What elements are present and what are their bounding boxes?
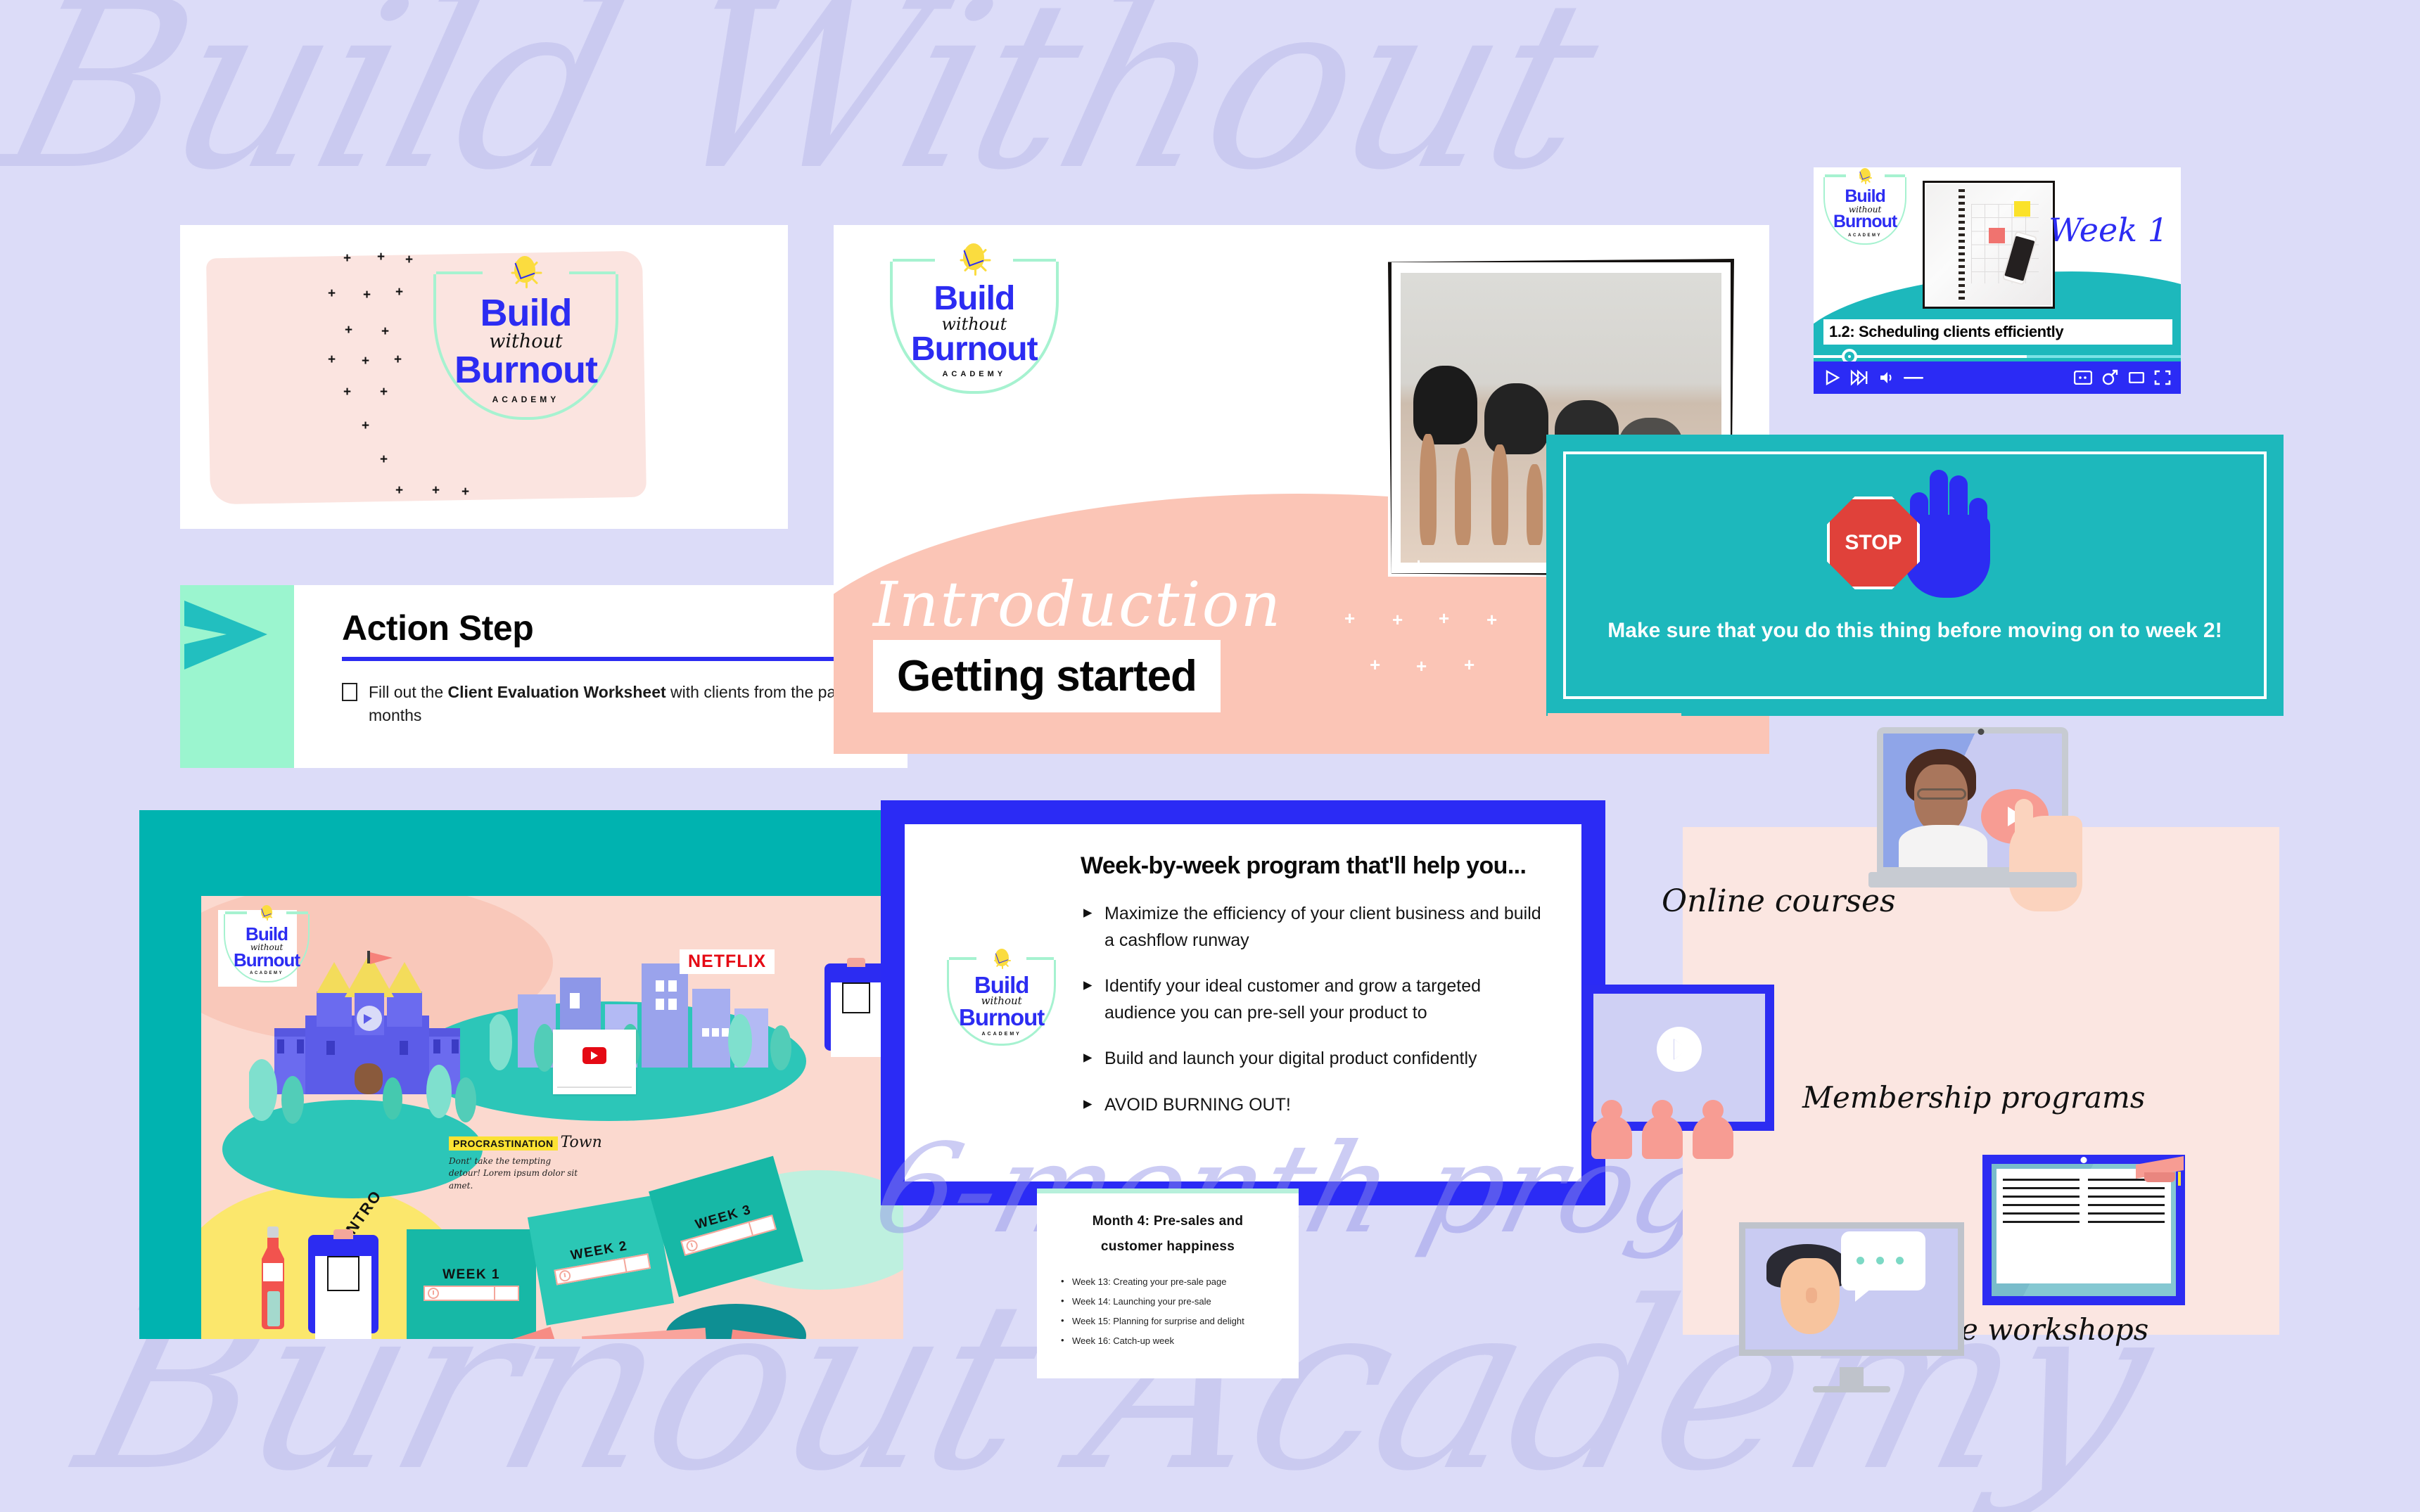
red-sticky-note: [1989, 228, 2005, 243]
roadmap-board-slide[interactable]: Build without Burnout ACADEMY: [139, 810, 903, 1339]
month-title: Month 4: Pre-sales and customer happines…: [1061, 1209, 1275, 1260]
graduation-cap-icon: [2136, 1160, 2184, 1186]
tile-slot: [423, 1286, 519, 1301]
brand-academy-text: ACADEMY: [911, 370, 1038, 378]
month-4-slide[interactable]: Month 4: Pre-sales and customer happines…: [1037, 1189, 1299, 1378]
mini-player-icon[interactable]: [2129, 372, 2144, 383]
stop-sign-icon: STOP: [1827, 496, 1920, 589]
castle-illustration: [249, 951, 488, 1127]
list-item: Week 13: Creating your pre-sale page: [1061, 1276, 1299, 1287]
brand-logo: Build without Burnout ACADEMY: [433, 274, 567, 420]
product-types-slide[interactable]: Online courses Membership programs E-boo…: [1683, 827, 2279, 1335]
brand-without-text: without: [911, 316, 1038, 333]
board-tile-week-10: WEEK 10: [582, 1328, 713, 1339]
hand-cursor-icon: [2009, 816, 2082, 911]
fullscreen-icon[interactable]: [2154, 370, 2171, 385]
stop-warning-slide[interactable]: STOP Make sure that you do this thing be…: [1546, 435, 2284, 716]
video-lesson-player[interactable]: Build without Burnout ACADEMY Week 1 1.2…: [1814, 167, 2181, 394]
town-script: Town: [561, 1134, 602, 1151]
label-online-courses: Online courses: [1662, 883, 1896, 919]
brand-build-text: Build: [959, 974, 1044, 996]
sun-icon: [507, 252, 544, 288]
youtube-video-card: [553, 1030, 636, 1094]
list-item: Week 14: Launching your pre-sale: [1061, 1296, 1299, 1307]
brand-academy-text: ACADEMY: [1833, 233, 1897, 238]
label-membership-programs: Membership programs: [1802, 1080, 2145, 1115]
sun-icon: [990, 946, 1014, 970]
week-by-week-program-slide[interactable]: Build without Burnout ACADEMY Week-by-we…: [881, 800, 1605, 1205]
list-item: AVOID BURNING OUT!: [1081, 1092, 1542, 1119]
procrastination-highlight: PROCRASTINATION: [449, 1136, 558, 1151]
lesson-title-bar: 1.2: Scheduling clients efficiently: [1823, 319, 2172, 345]
arrow-icon: [184, 598, 325, 674]
volume-slider[interactable]: [1904, 376, 1923, 380]
stop-hand-illustration: STOP: [1827, 453, 2003, 601]
brand-logo: Build without Burnout ACADEMY: [947, 960, 1038, 1046]
procrastination-note: Dont' take the tempting detour! Lorem ip…: [449, 1155, 579, 1192]
board-tile-week-2: WEEK 2: [528, 1195, 674, 1326]
ebook-tablet-illustration: [1982, 1155, 2185, 1305]
brand-cover-slide[interactable]: +++ +++ ++ +++ ++ + + + ++ Build without…: [180, 225, 788, 529]
yellow-sticky-note: [2014, 201, 2030, 217]
task-prefix: Fill out the: [369, 683, 448, 701]
task-bold: Client Evaluation Worksheet: [448, 683, 666, 701]
program-heading: Week-by-week program that'll help you...: [1081, 852, 1542, 880]
list-item: Identify your ideal customer and grow a …: [1081, 973, 1542, 1026]
sun-icon: [956, 239, 993, 276]
getting-started-headline: Getting started: [873, 640, 1221, 712]
brand-academy-text: ACADEMY: [454, 395, 597, 404]
task-text: Fill out the Client Evaluation Worksheet…: [369, 681, 882, 728]
brand-build-text: Build: [1833, 188, 1897, 205]
chat-bubble-icon: [1841, 1231, 1925, 1290]
brand-academy-text: ACADEMY: [959, 1032, 1044, 1037]
progress-scrubber[interactable]: [1814, 352, 2181, 361]
list-item: Week 15: Planning for surprise and delig…: [1061, 1316, 1299, 1326]
brand-burnout-text: Burnout: [454, 352, 597, 388]
brand-logo: Build without Burnout ACADEMY: [1823, 177, 1897, 245]
brand-without-text: without: [454, 332, 597, 351]
introduction-script-label: Introduction: [873, 568, 1282, 641]
play-icon[interactable]: [1823, 369, 1840, 386]
list-item: Maximize the efficiency of your client b…: [1081, 901, 1542, 954]
brand-build-text: Build: [234, 925, 300, 943]
clipboard-illustration-2: [824, 963, 888, 1051]
player-controls[interactable]: [1814, 361, 2181, 394]
mint-top-bar: [1037, 1189, 1299, 1193]
volume-icon[interactable]: [1878, 370, 1894, 385]
membership-video-illustration: [1584, 985, 1774, 1131]
laptop-course-illustration: [1877, 727, 2085, 909]
brand-build-text: Build: [454, 295, 597, 331]
month-week-list: Week 13: Creating your pre-sale page Wee…: [1061, 1276, 1299, 1346]
tile-label: WEEK 1: [442, 1267, 500, 1283]
action-step-slide[interactable]: Action Step Fill out the Client Evaluati…: [180, 585, 907, 768]
program-bullet-list: Maximize the efficiency of your client b…: [1081, 901, 1542, 1118]
brand-burnout-text: Burnout: [911, 333, 1038, 366]
week-label: Week 1: [2049, 211, 2168, 249]
bottle-illustration: [253, 1226, 293, 1339]
procrastination-town-callout: PROCRASTINATIONTown Dont' take the tempt…: [449, 1134, 646, 1192]
sun-icon: [257, 903, 276, 921]
netflix-billboard: NETFLIX: [680, 949, 775, 974]
sun-icon: [1856, 167, 1874, 184]
brand-burnout-text: Burnout: [959, 1006, 1044, 1028]
task-checkbox[interactable]: [342, 683, 357, 701]
youtube-play-icon: [582, 1047, 606, 1064]
blue-rule: [342, 657, 882, 661]
action-step-title: Action Step: [342, 608, 882, 648]
next-track-icon[interactable]: [1850, 369, 1868, 386]
audience-icons: [1591, 1115, 1733, 1159]
play-button-icon: [1657, 1027, 1702, 1072]
settings-icon[interactable]: [2102, 369, 2119, 386]
clipboard-illustration: [308, 1235, 378, 1333]
watermark-top: Build Without: [0, 0, 1618, 221]
captions-icon[interactable]: [2074, 371, 2092, 385]
lesson-thumbnail: [1923, 181, 2054, 308]
pink-sliver-shape: [1548, 713, 1681, 744]
brand-build-text: Build: [911, 283, 1038, 315]
list-item: Week 16: Catch-up week: [1061, 1335, 1299, 1346]
brand-logo: Build without Burnout ACADEMY: [890, 262, 1017, 394]
board-tile-week-1: WEEK 1: [407, 1229, 536, 1339]
list-item: Build and launch your digital product co…: [1081, 1046, 1542, 1072]
live-workshop-illustration: [1739, 1222, 1964, 1369]
brand-burnout-text: Burnout: [1833, 214, 1897, 231]
stop-message: Make sure that you do this thing before …: [1591, 615, 2238, 646]
